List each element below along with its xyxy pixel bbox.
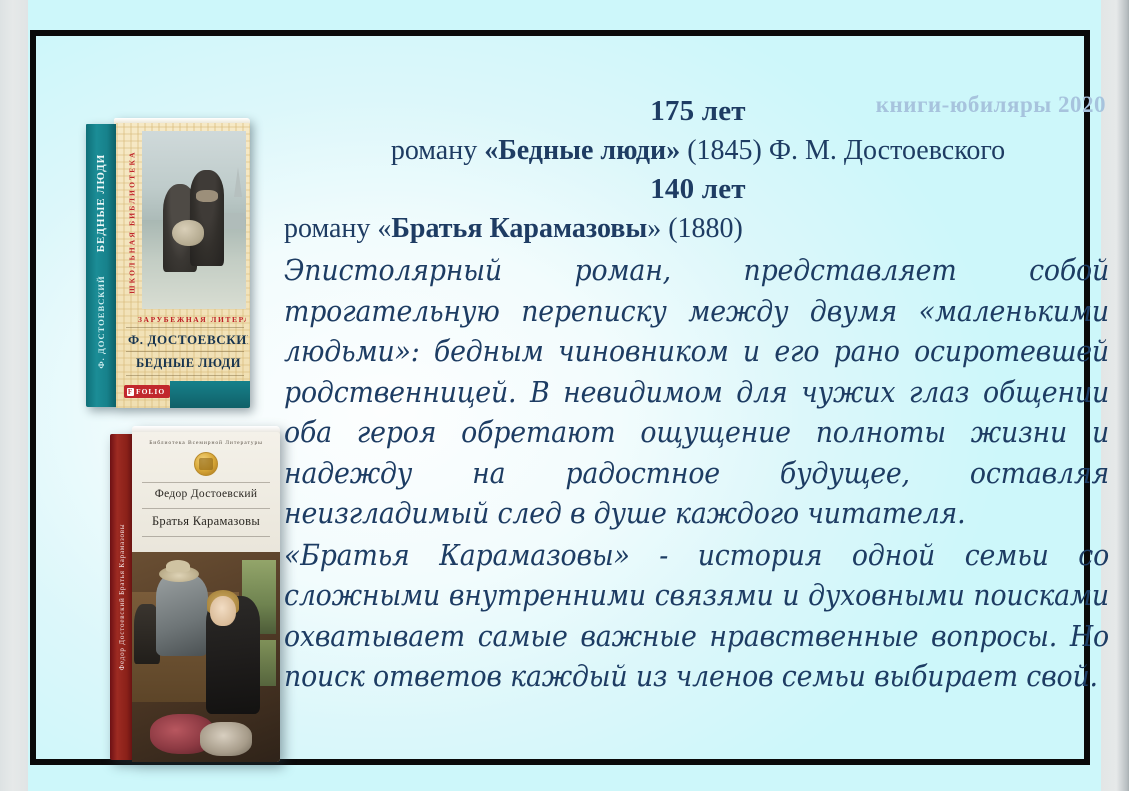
description-paragraph-2: «Братья Карамазовы» - история одной семь… — [284, 536, 1109, 698]
page-edge-left — [0, 0, 28, 791]
book2-author-label: Федор Достоевский — [132, 488, 280, 500]
book2-title-label: Братья Карамазовы — [132, 514, 280, 529]
book2-spine-label: Федор Достоевский Братья Карамазовы — [118, 524, 126, 671]
work-suffix-2: (1880) — [661, 213, 743, 244]
artwork-sack — [172, 220, 204, 246]
book1-publisher-logo: F FOLIO — [124, 385, 170, 398]
book1-rule-1 — [126, 327, 244, 328]
artwork2-figure-man — [156, 574, 208, 656]
book1-genre-label: ЗАРУБЕЖНАЯ ЛИТЕРАТУРА — [138, 315, 246, 324]
book1-series-label: ШКОЛЬНАЯ БИБЛИОТЕКА — [128, 150, 137, 294]
work-suffix-1: (1845) Ф. М. Достоевского — [680, 135, 1005, 166]
book-cover-bratya-karamazovy: Федор Достоевский Братья Карамазовы Библ… — [110, 424, 282, 766]
roman-prefix-1: роману — [391, 135, 484, 166]
anniversary-line-1-work: роману «Бедные люди» (1845) Ф. М. Достое… — [284, 131, 1112, 170]
slide-root: книги-юбиляры 2020 БЕДНЫЕ ЛЮДИ Ф. ДОСТОЕ… — [0, 0, 1129, 791]
book1-spine-title: БЕДНЫЕ ЛЮДИ — [95, 154, 107, 253]
artwork2-face — [210, 596, 236, 626]
book2-cover-artwork — [132, 552, 280, 762]
book2-rule-1 — [142, 482, 270, 483]
artwork-fortress — [223, 213, 245, 229]
book1-series-band: ШКОЛЬНАЯ БИБЛИОТЕКА — [125, 129, 139, 315]
anniversary-line-1-years: 175 лет — [284, 92, 1112, 131]
work-title-1: Бедные люди — [498, 135, 666, 166]
work-title-2: Братья Карамазовы — [391, 213, 647, 244]
book1-spine-author: Ф. ДОСТОЕВСКИЙ — [96, 275, 106, 368]
book1-rule-2 — [126, 351, 244, 352]
book1-cover-artwork — [142, 131, 246, 309]
text-column: 175 лет роману «Бедные люди» (1845) Ф. М… — [284, 92, 1112, 698]
artwork2-bundle-light — [200, 722, 252, 756]
title-quote-open-2: « — [377, 213, 391, 244]
book1-front-cover: ШКОЛЬНАЯ БИБЛИОТЕКА ЗАРУБЕЖНАЯ ЛИТЕРАТУР… — [116, 123, 250, 408]
book2-rule-3 — [142, 536, 270, 537]
artwork2-hat — [159, 566, 199, 582]
slide-frame: книги-юбиляры 2020 БЕДНЫЕ ЛЮДИ Ф. ДОСТОЕ… — [30, 30, 1090, 765]
artwork-scarf — [196, 190, 218, 202]
artwork-figure-man — [190, 170, 224, 266]
folio-mark-icon: F — [127, 388, 134, 396]
book1-author-label: Ф. ДОСТОЕВСКИЙ — [128, 332, 248, 348]
book1-title-label: БЕДНЫЕ ЛЮДИ — [136, 356, 248, 371]
book2-rule-2 — [142, 508, 270, 509]
book1-rule-3 — [126, 375, 244, 376]
title-quote-close-2: » — [647, 213, 661, 244]
slide-content: книги-юбиляры 2020 БЕДНЫЕ ЛЮДИ Ф. ДОСТОЕ… — [72, 72, 1120, 791]
book1-spine: БЕДНЫЕ ЛЮДИ Ф. ДОСТОЕВСКИЙ — [86, 124, 116, 407]
description-paragraph-1: Эпистолярный роман, представляет собой т… — [284, 251, 1109, 535]
book2-emblem-icon — [194, 452, 218, 476]
roman-prefix-2: роману — [284, 213, 377, 244]
anniversary-line-2-years: 140 лет — [284, 170, 1112, 209]
book2-front-cover: Библиотека Всемирной Литературы Федор До… — [132, 432, 280, 762]
years-140: 140 лет — [650, 173, 746, 205]
title-quote-close-1: » — [666, 135, 680, 166]
book2-spine: Федор Достоевский Братья Карамазовы — [110, 434, 134, 760]
book1-publisher-label: FOLIO — [136, 387, 165, 396]
book-cover-bednye-lyudi: БЕДНЫЕ ЛЮДИ Ф. ДОСТОЕВСКИЙ — [86, 118, 252, 410]
book1-bottom-band — [170, 381, 250, 408]
years-175: 175 лет — [650, 95, 746, 127]
title-quote-open-1: « — [484, 135, 498, 166]
artwork-spire — [234, 167, 242, 197]
book2-series-label: Библиотека Всемирной Литературы — [132, 440, 280, 446]
anniversary-line-2-work: роману «Братья Карамазовы» (1880) — [284, 209, 1112, 248]
